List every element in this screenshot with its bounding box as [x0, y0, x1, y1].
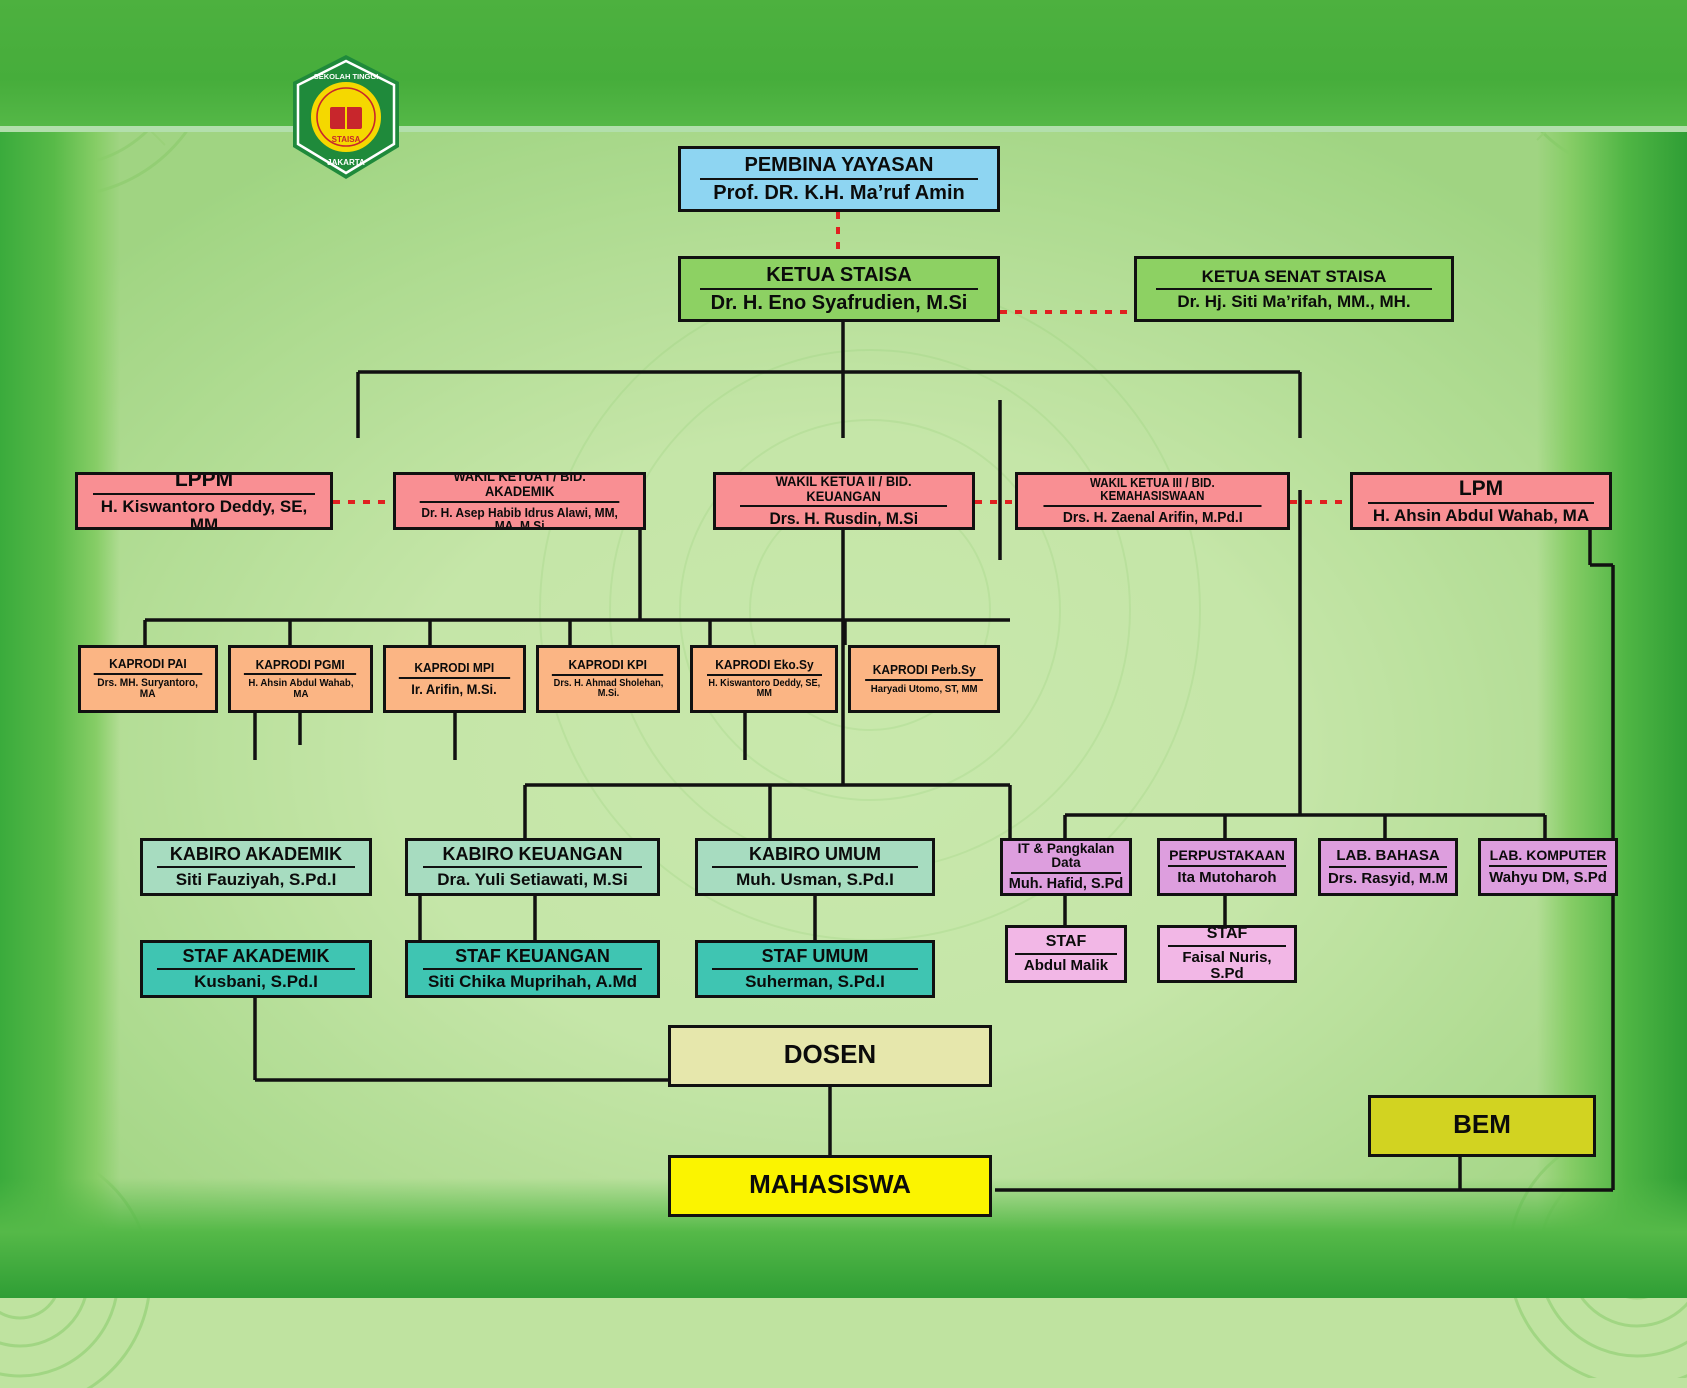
node-perpustakaan[interactable]: PERPUSTAKAAN Ita Mutoharoh: [1157, 838, 1297, 896]
node-title: STAF KEUANGAN: [423, 947, 642, 970]
node-name: Drs. Rasyid, M.M: [1326, 871, 1449, 887]
node-kaprodi-pai[interactable]: KAPRODI PAI Drs. MH. Suryantoro, MA: [78, 645, 218, 713]
node-title: KAPRODI Perb.Sy: [865, 663, 983, 681]
node-name: Drs. MH. Suryantoro, MA: [91, 678, 204, 701]
node-title: WAKIL KETUA II / BID. KEUANGAN: [740, 474, 947, 507]
node-name: Prof. DR. K.H. Ma’ruf Amin: [694, 183, 985, 204]
node-name: Ir. Arifin, M.Si.: [397, 682, 513, 697]
node-title: STAF UMUM: [712, 947, 918, 970]
node-kabiro-akademik[interactable]: KABIRO AKADEMIK Siti Fauziyah, S.Pd.I: [140, 838, 372, 896]
node-name: Faisal Nuris, S.Pd: [1165, 950, 1288, 982]
node-kabiro-umum[interactable]: KABIRO UMUM Muh. Usman, S.Pd.I: [695, 838, 935, 896]
node-name: H. Kiswantoro Deddy, SE, MM: [88, 498, 320, 530]
node-lppm[interactable]: LPPM H. Kiswantoro Deddy, SE, MM: [75, 472, 333, 530]
node-lpm[interactable]: LPM H. Ahsin Abdul Wahab, MA: [1350, 472, 1612, 530]
node-title: LPM: [1368, 478, 1593, 504]
svg-text:STAISA: STAISA: [332, 135, 361, 144]
node-name: Drs. H. Zaenal Arifin, M.Pd.I: [1039, 510, 1267, 526]
node-ketua-senat-staisa[interactable]: KETUA SENAT STAISA Dr. Hj. Siti Ma’rifah…: [1134, 256, 1454, 322]
node-lab-komputer[interactable]: LAB. KOMPUTER Wahyu DM, S.Pd: [1478, 838, 1618, 896]
node-title: STAF AKADEMIK: [157, 947, 356, 970]
node-name: Dr. Hj. Siti Ma’rifah, MM., MH.: [1150, 293, 1439, 311]
node-kaprodi-eko-sy[interactable]: KAPRODI Eko.Sy H. Kiswantoro Deddy, SE, …: [690, 645, 838, 713]
node-title: STAF: [1168, 926, 1286, 947]
node-title: KAPRODI PGMI: [244, 658, 357, 676]
node-name: Dra. Yuli Setiawati, M.Si: [418, 871, 647, 889]
org-chart: PEMBINA YAYASAN Prof. DR. K.H. Ma’ruf Am…: [0, 0, 1687, 1298]
node-staf-it[interactable]: STAF Abdul Malik: [1005, 925, 1127, 983]
node-title: LPPM: [93, 472, 315, 495]
node-title: PEMBINA YAYASAN: [700, 155, 978, 180]
node-kaprodi-pgmi[interactable]: KAPRODI PGMI H. Ahsin Abdul Wahab, MA: [228, 645, 373, 713]
node-title: WAKIL KETUA I / BID. AKADEMIK: [420, 472, 620, 503]
node-title: KABIRO UMUM: [712, 845, 918, 868]
node-title: KETUA SENAT STAISA: [1156, 268, 1432, 290]
node-title: KAPRODI Eko.Sy: [707, 658, 822, 676]
node-title: LAB. KOMPUTER: [1489, 848, 1607, 867]
node-name: Suherman, S.Pd.I: [707, 973, 922, 991]
node-name: Drs. H. Rusdin, M.Si: [736, 510, 953, 528]
node-title: KAPRODI MPI: [399, 661, 510, 679]
node-wakil-ketua-2[interactable]: WAKIL KETUA II / BID. KEUANGAN Drs. H. R…: [713, 472, 975, 530]
staisa-logo: SEKOLAH TINGGI JAKARTA STAISA: [286, 52, 406, 182]
node-bem[interactable]: BEM: [1368, 1095, 1596, 1157]
svg-text:JAKARTA: JAKARTA: [327, 158, 365, 167]
node-title: KAPRODI PAI: [94, 657, 202, 675]
node-title: PERPUSTAKAAN: [1168, 848, 1286, 867]
node-kaprodi-perb-sy[interactable]: KAPRODI Perb.Sy Haryadi Utomo, ST, MM: [848, 645, 1000, 713]
node-name: Muh. Hafid, S.Pd: [1008, 877, 1124, 892]
node-name: H. Ahsin Abdul Wahab, MA: [1363, 507, 1599, 525]
node-staf-umum[interactable]: STAF UMUM Suherman, S.Pd.I: [695, 940, 935, 998]
node-title: WAKIL KETUA III / BID. KEMAHASISWAAN: [1044, 477, 1262, 507]
node-name: Muh. Usman, S.Pd.I: [707, 871, 922, 889]
node-title: KETUA STAISA: [700, 265, 978, 290]
node-name: Wahyu DM, S.Pd: [1486, 870, 1609, 886]
node-name: Kusbani, S.Pd.I: [152, 973, 360, 991]
node-title: KABIRO KEUANGAN: [423, 845, 642, 868]
node-title: KABIRO AKADEMIK: [157, 845, 356, 868]
node-name: Drs. H. Ahmad Sholehan, M.Si.: [550, 679, 667, 700]
node-title: MAHASISWA: [690, 1171, 970, 1200]
node-ketua-staisa[interactable]: KETUA STAISA Dr. H. Eno Syafrudien, M.Si: [678, 256, 1000, 322]
node-it-pangkalan-data[interactable]: IT & Pangkalan Data Muh. Hafid, S.Pd: [1000, 838, 1132, 896]
node-mahasiswa[interactable]: MAHASISWA: [668, 1155, 992, 1217]
page-header: [0, 0, 1687, 132]
node-wakil-ketua-1[interactable]: WAKIL KETUA I / BID. AKADEMIK Dr. H. Ase…: [393, 472, 646, 530]
node-name: Ita Mutoharoh: [1165, 870, 1288, 886]
node-staf-akademik[interactable]: STAF AKADEMIK Kusbani, S.Pd.I: [140, 940, 372, 998]
node-title: KAPRODI KPI: [552, 658, 664, 676]
node-wakil-ketua-3[interactable]: WAKIL KETUA III / BID. KEMAHASISWAAN Drs…: [1015, 472, 1290, 530]
node-kabiro-keuangan[interactable]: KABIRO KEUANGAN Dra. Yuli Setiawati, M.S…: [405, 838, 660, 896]
node-kaprodi-kpi[interactable]: KAPRODI KPI Drs. H. Ahmad Sholehan, M.Si…: [536, 645, 680, 713]
node-name: Siti Chika Muprihah, A.Md: [418, 973, 647, 991]
node-staf-perpustakaan[interactable]: STAF Faisal Nuris, S.Pd: [1157, 925, 1297, 983]
node-name: Dr. H. Asep Habib Idrus Alawi, MM, MA, M…: [415, 506, 624, 530]
node-staf-keuangan[interactable]: STAF KEUANGAN Siti Chika Muprihah, A.Md: [405, 940, 660, 998]
node-title: LAB. BAHASA: [1329, 848, 1447, 868]
node-name: H. Ahsin Abdul Wahab, MA: [242, 678, 360, 700]
node-kaprodi-mpi[interactable]: KAPRODI MPI Ir. Arifin, M.Si.: [383, 645, 526, 713]
node-name: Siti Fauziyah, S.Pd.I: [152, 871, 360, 889]
node-title: DOSEN: [690, 1041, 970, 1070]
node-name: Abdul Malik: [1013, 958, 1120, 974]
node-title: IT & Pangkalan Data: [1011, 842, 1122, 874]
node-pembina-yayasan[interactable]: PEMBINA YAYASAN Prof. DR. K.H. Ma’ruf Am…: [678, 146, 1000, 212]
node-name: Haryadi Utomo, ST, MM: [862, 684, 986, 695]
node-title: STAF: [1015, 934, 1117, 955]
node-title: BEM: [1384, 1111, 1579, 1140]
svg-text:SEKOLAH TINGGI: SEKOLAH TINGGI: [314, 72, 379, 81]
node-name: Dr. H. Eno Syafrudien, M.Si: [694, 293, 985, 314]
node-name: H. Kiswantoro Deddy, SE, MM: [704, 679, 824, 700]
node-dosen[interactable]: DOSEN: [668, 1025, 992, 1087]
node-lab-bahasa[interactable]: LAB. BAHASA Drs. Rasyid, M.M: [1318, 838, 1458, 896]
